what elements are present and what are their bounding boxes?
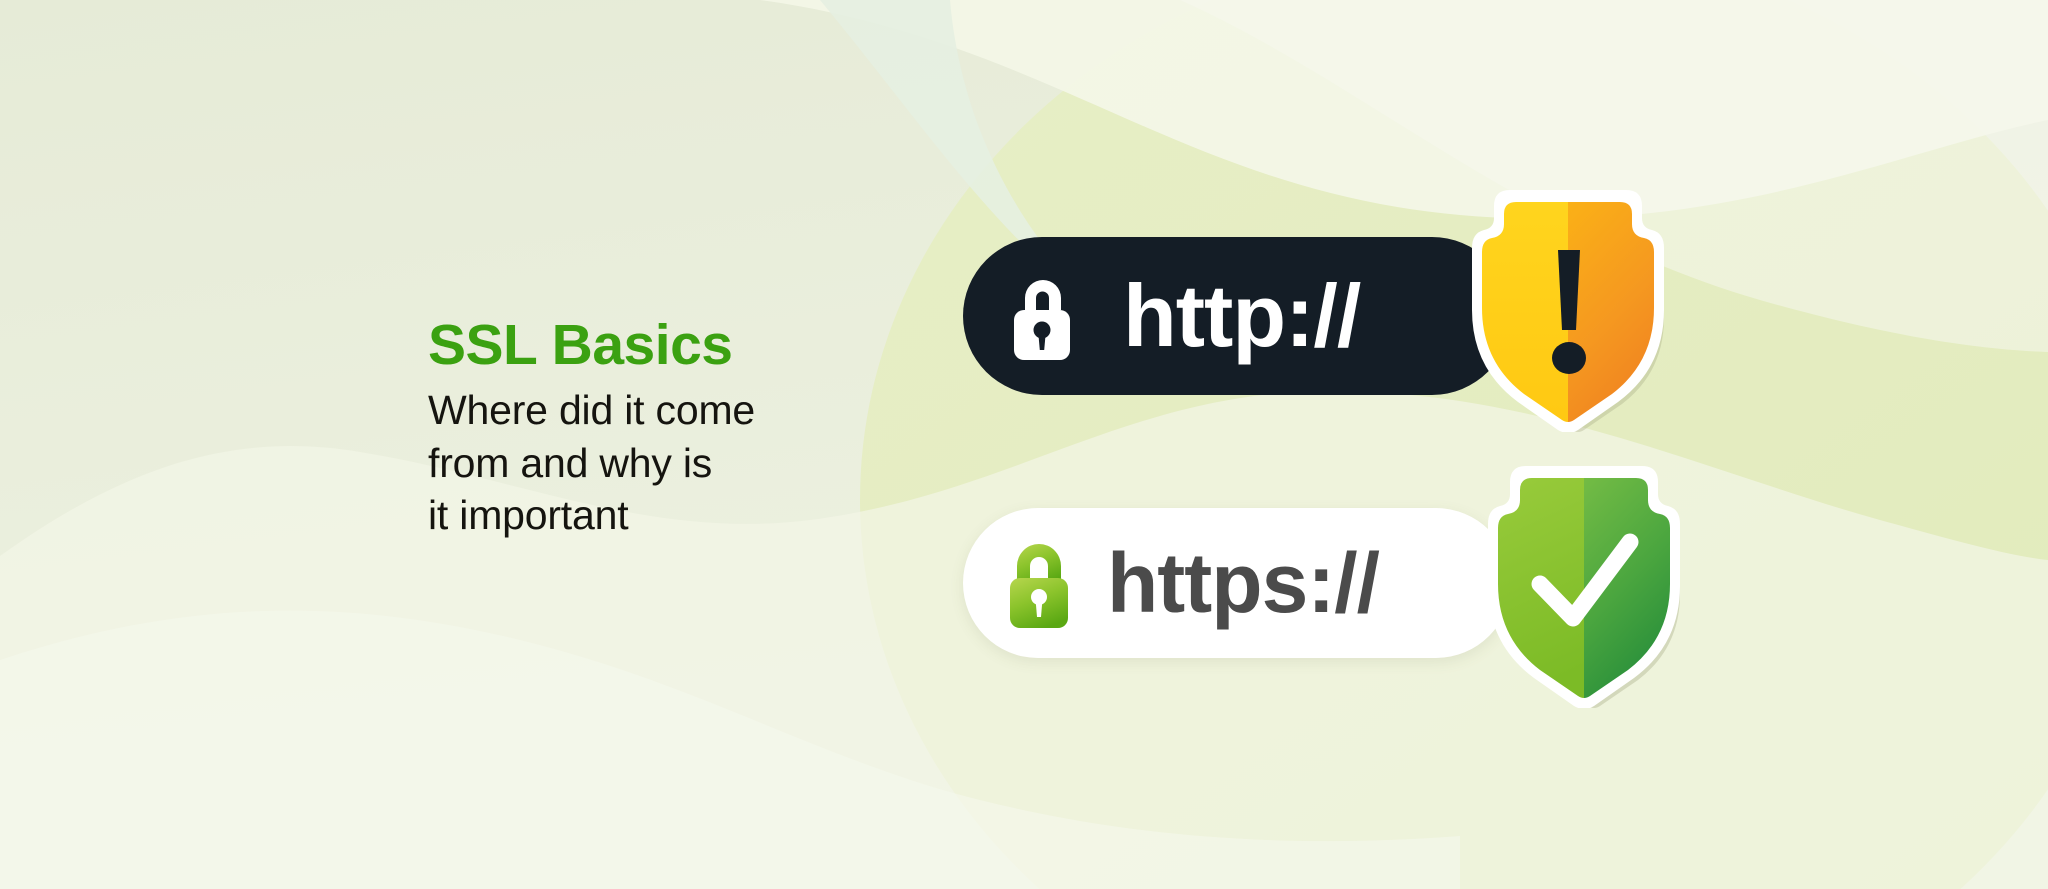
subtitle-line-1: Where did it come [428, 387, 755, 433]
page-subtitle: Where did it comefrom and why isit impor… [428, 384, 898, 541]
background-decoration [0, 0, 2048, 889]
headline-block: SSL Basics Where did it comefrom and why… [428, 316, 898, 542]
warning-shield-icon [1462, 180, 1686, 432]
locked-padlock-icon [1003, 538, 1075, 628]
page-title: SSL Basics [428, 316, 898, 374]
http-protocol-text: http:// [1123, 272, 1360, 360]
unlocked-padlock-icon [1005, 270, 1079, 362]
subtitle-line-2: from and why is [428, 440, 712, 486]
https-url-bar: https:// [963, 508, 1511, 658]
https-protocol-text: https:// [1107, 541, 1379, 625]
http-url-bar: http:// [963, 237, 1511, 395]
ssl-basics-banner: SSL Basics Where did it comefrom and why… [0, 0, 2048, 889]
check-shield-icon [1478, 456, 1702, 708]
subtitle-line-3: it important [428, 492, 628, 538]
